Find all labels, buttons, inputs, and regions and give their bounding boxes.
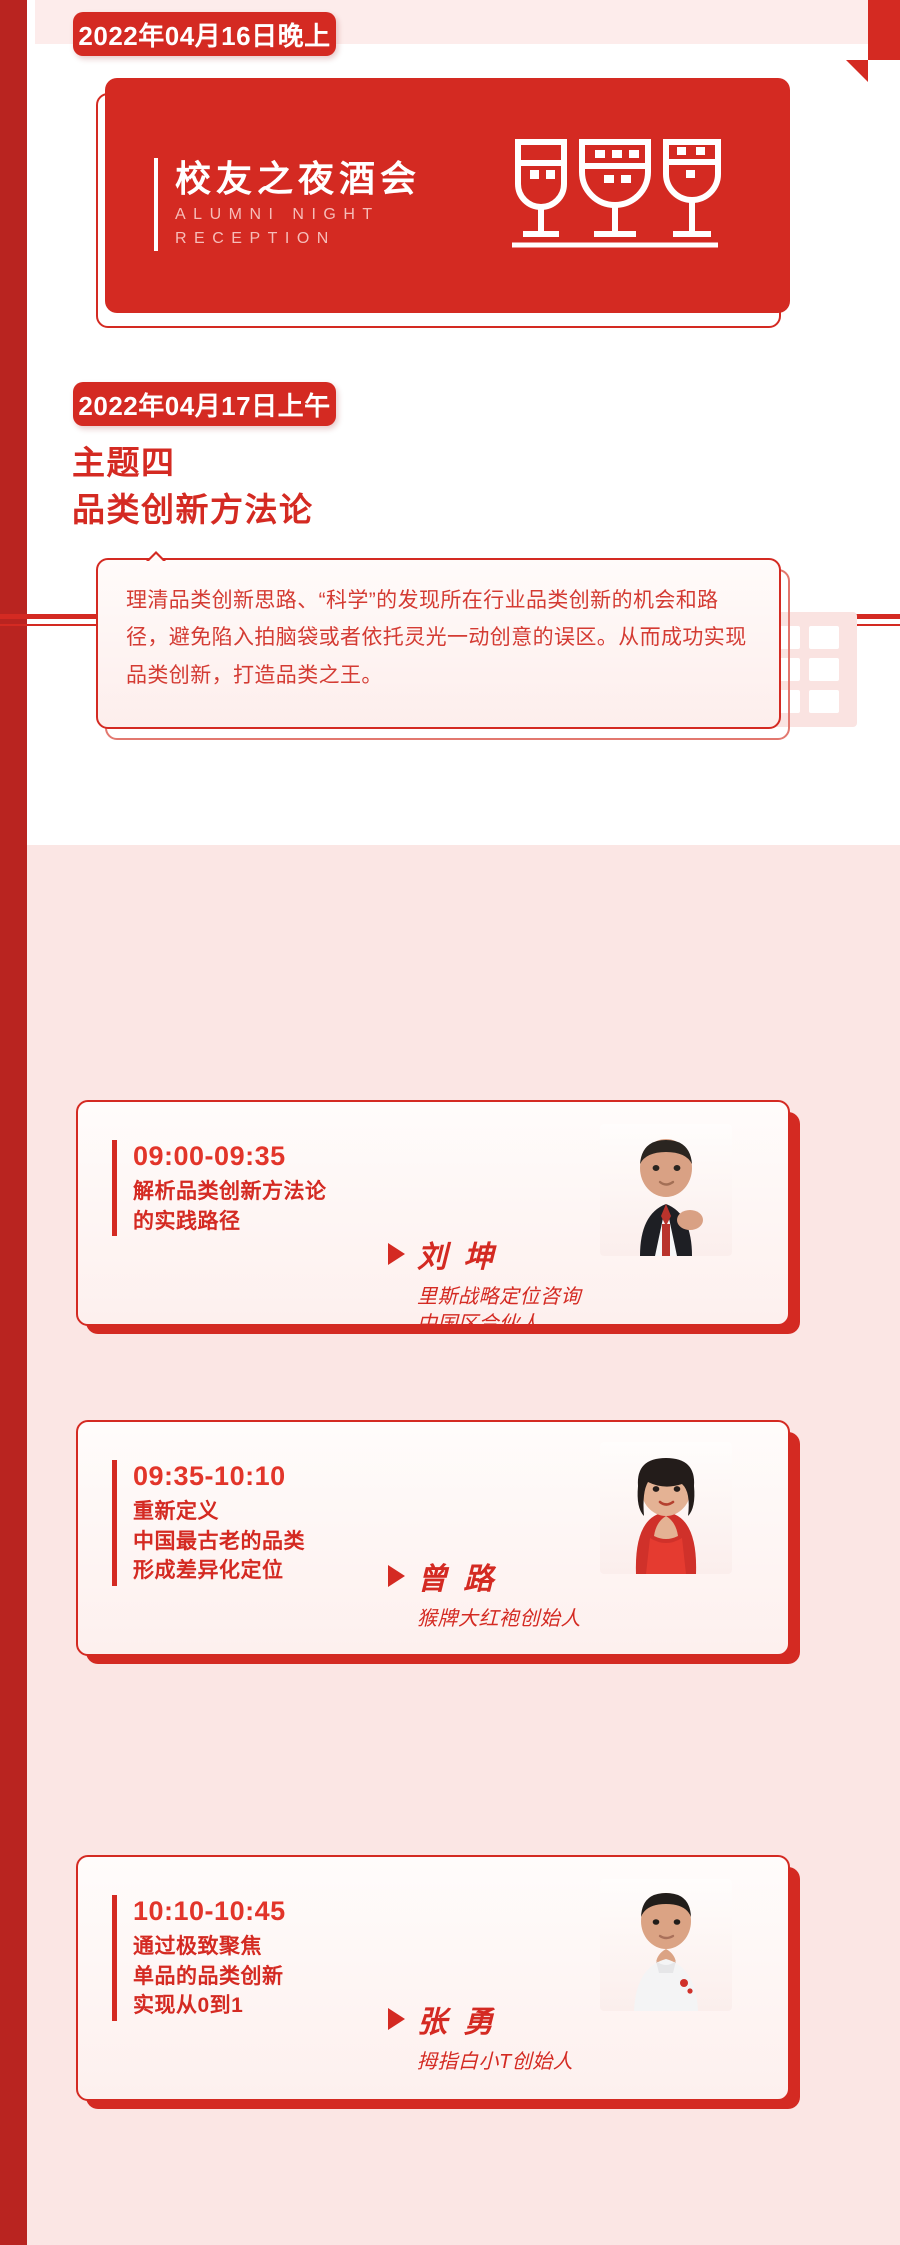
description-pointer-notch — [144, 549, 168, 561]
play-triangle-icon — [388, 1565, 405, 1587]
speaker-portrait-zeng-lu — [600, 1442, 732, 1574]
theme-heading: 主题四 品类创新方法论 — [72, 440, 314, 534]
left-rail-dark — [0, 0, 27, 2245]
session-topic-line: 中国最古老的品类 — [133, 1527, 305, 1556]
session-card-body: 09:00-09:35 解析品类创新方法论 的实践路径 刘 坤 里斯战略定位咨询… — [76, 1100, 790, 1326]
session-info-block: 10:10-10:45 通过极致聚焦 单品的品类创新 实现从0到1 — [112, 1895, 286, 2021]
alumni-title-cn: 校友之夜酒会 — [175, 158, 421, 199]
alumni-title-group: 校友之夜酒会 ALUMNI NIGHT RECEPTION — [154, 158, 421, 251]
session-card[interactable]: 10:10-10:45 通过极致聚焦 单品的品类创新 实现从0到1 张 勇 拇指… — [76, 1855, 800, 2125]
play-triangle-icon — [388, 2008, 405, 2030]
theme-heading-line1: 主题四 — [72, 440, 314, 487]
session-topic-line: 解析品类创新方法论 — [133, 1177, 327, 1206]
speaker-title-line: 中国区合伙人 — [417, 1311, 581, 1326]
speaker-title: 里斯战略定位咨询 中国区合伙人 — [388, 1284, 581, 1326]
speaker-portrait-liu-kun — [600, 1124, 732, 1256]
event-schedule-poster: 2022年04月16日晚上 校友之夜酒会 ALUMNI NIGHT RECEPT… — [0, 0, 900, 2245]
session-topic: 解析品类创新方法论 的实践路径 — [133, 1177, 327, 1236]
session-pointer-notch — [678, 2099, 704, 2101]
session-card-body: 10:10-10:45 通过极致聚焦 单品的品类创新 实现从0到1 张 勇 拇指… — [76, 1855, 790, 2101]
session-topic-line: 单品的品类创新 — [133, 1962, 286, 1991]
wine-glasses-icon — [500, 130, 730, 260]
session-topic: 通过极致聚焦 单品的品类创新 实现从0到1 — [133, 1932, 286, 2020]
speaker-block: 张 勇 拇指白小T创始人 — [388, 1997, 573, 2076]
session-time: 09:35-10:10 — [133, 1460, 305, 1492]
speaker-title: 拇指白小T创始人 — [388, 2049, 573, 2076]
session-topic-line: 形成差异化定位 — [133, 1556, 305, 1585]
session-info-block: 09:35-10:10 重新定义 中国最古老的品类 形成差异化定位 — [112, 1460, 305, 1586]
speaker-block: 刘 坤 里斯战略定位咨询 中国区合伙人 — [388, 1232, 581, 1326]
speaker-title-line: 里斯战略定位咨询 — [417, 1284, 581, 1311]
speaker-name-row: 刘 坤 — [388, 1232, 581, 1276]
top-right-corner-notch — [868, 0, 900, 60]
speaker-title-line: 猴牌大红袍创始人 — [417, 1606, 581, 1633]
session-info-block: 09:00-09:35 解析品类创新方法论 的实践路径 — [112, 1140, 327, 1236]
session-card[interactable]: 09:00-09:35 解析品类创新方法论 的实践路径 刘 坤 里斯战略定位咨询… — [76, 1100, 800, 1350]
description-text: 理清品类创新思路、“科学”的发现所在行业品类创新的机会和路径，避免陷入拍脑袋或者… — [126, 582, 758, 694]
speaker-name: 曾 路 — [417, 1554, 497, 1598]
session-topic-line: 的实践路径 — [133, 1207, 327, 1236]
session-topic-line: 实现从0到1 — [133, 1991, 286, 2020]
session-time: 09:00-09:35 — [133, 1140, 327, 1172]
date-badge-day1: 2022年04月16日晚上 — [73, 12, 336, 56]
session-time: 10:10-10:45 — [133, 1895, 286, 1927]
session-pointer-notch — [678, 1654, 704, 1656]
session-topic: 重新定义 中国最古老的品类 形成差异化定位 — [133, 1497, 305, 1585]
alumni-night-card: 校友之夜酒会 ALUMNI NIGHT RECEPTION — [105, 78, 790, 313]
speaker-name: 张 勇 — [417, 1997, 497, 2041]
description-box: 理清品类创新思路、“科学”的发现所在行业品类创新的机会和路径，避免陷入拍脑袋或者… — [96, 558, 781, 729]
speaker-title-line: 拇指白小T创始人 — [417, 2049, 573, 2076]
date-badge-day2: 2022年04月17日上午 — [73, 382, 336, 426]
session-card-body: 09:35-10:10 重新定义 中国最古老的品类 形成差异化定位 曾 路 猴牌… — [76, 1420, 790, 1656]
speaker-block: 曾 路 猴牌大红袍创始人 — [388, 1554, 581, 1633]
alumni-title-en-line1: ALUMNI NIGHT — [175, 203, 421, 227]
speaker-name-row: 曾 路 — [388, 1554, 581, 1598]
left-rail-gap-lower — [27, 845, 35, 2245]
theme-heading-line2: 品类创新方法论 — [72, 487, 314, 534]
speaker-name-row: 张 勇 — [388, 1997, 573, 2041]
session-pointer-notch — [678, 1324, 704, 1326]
theme-description-bubble: 理清品类创新思路、“科学”的发现所在行业品类创新的机会和路径，避免陷入拍脑袋或者… — [96, 558, 790, 740]
alumni-title-en-line2: RECEPTION — [175, 227, 421, 251]
play-triangle-icon — [388, 1243, 405, 1265]
speaker-portrait-zhang-yong — [600, 1879, 732, 2011]
session-card[interactable]: 09:35-10:10 重新定义 中国最古老的品类 形成差异化定位 曾 路 猴牌… — [76, 1420, 800, 1685]
speaker-title: 猴牌大红袍创始人 — [388, 1606, 581, 1633]
speaker-name: 刘 坤 — [417, 1232, 497, 1276]
session-topic-line: 通过极致聚焦 — [133, 1932, 286, 1961]
session-topic-line: 重新定义 — [133, 1497, 305, 1526]
